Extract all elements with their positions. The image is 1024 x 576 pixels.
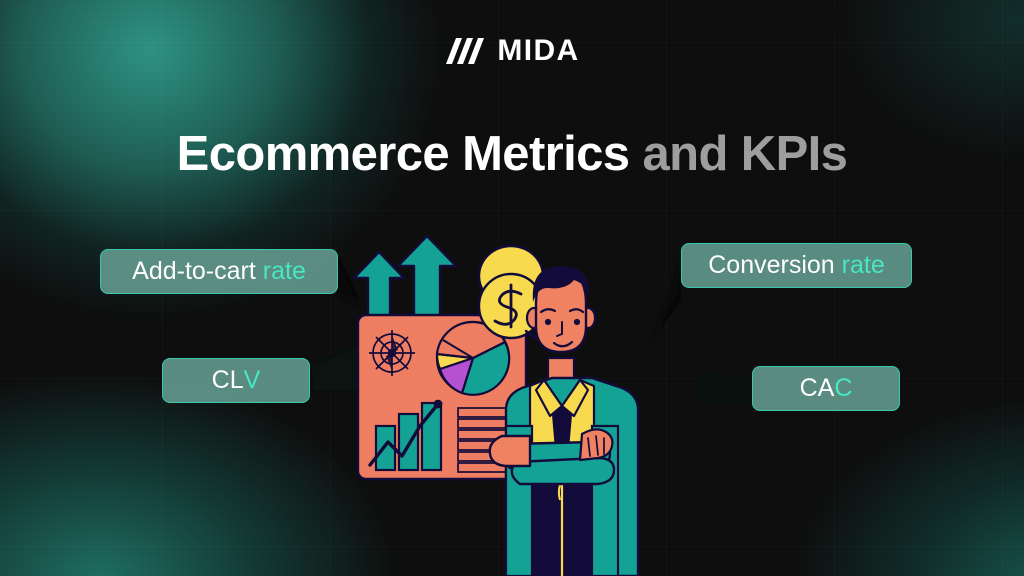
page-title-primary: Ecommerce Metrics bbox=[177, 127, 630, 181]
brand-logo: MIDA bbox=[0, 36, 1024, 66]
metric-chip-conversion-rate[interactable]: Conversion rate bbox=[681, 243, 912, 288]
mida-slashes-icon bbox=[444, 36, 484, 66]
chip-label-accent: rate bbox=[263, 259, 306, 284]
metric-chip-cac[interactable]: CAC bbox=[752, 366, 900, 411]
chip-label-white: CA bbox=[800, 376, 835, 401]
brand-name: MIDA bbox=[497, 36, 579, 66]
poster-canvas: MIDA Ecommerce Metrics and KPIs Add-to-c… bbox=[0, 0, 1024, 576]
chip-label-accent: C bbox=[834, 376, 852, 401]
chip-label-accent: V bbox=[244, 368, 261, 393]
metric-chip-add-to-cart-rate[interactable]: Add-to-cart rate bbox=[100, 249, 338, 294]
chip-label-white: Add-to-cart bbox=[132, 259, 256, 284]
ecommerce-analytics-illustration bbox=[330, 230, 710, 576]
chip-label-white: CL bbox=[212, 368, 244, 393]
chip-label-accent: rate bbox=[842, 253, 885, 278]
page-title-secondary: and KPIs bbox=[642, 127, 847, 181]
page-title: Ecommerce Metrics and KPIs bbox=[0, 128, 1024, 182]
metric-chip-clv[interactable]: CLV bbox=[162, 358, 310, 403]
chip-label-white: Conversion bbox=[708, 253, 834, 278]
